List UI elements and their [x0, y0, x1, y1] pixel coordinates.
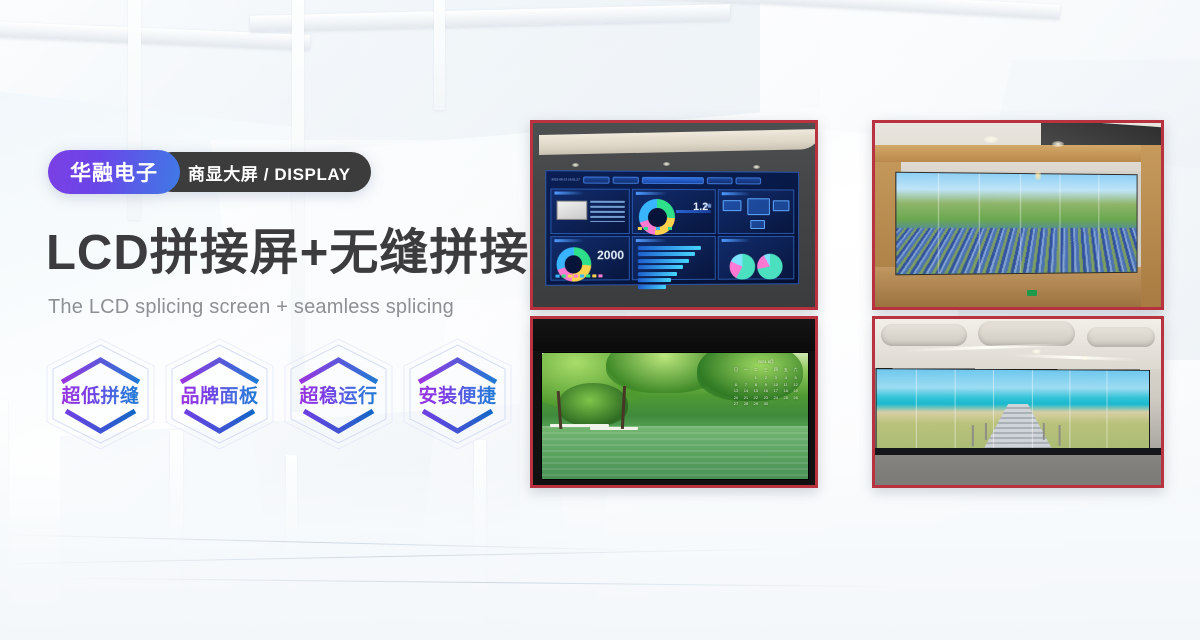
photo-dashboard-wall: 2021-06-13 16:51:27 1.2 万亩: [530, 120, 818, 310]
photo-beach-boardwalk-wall: [872, 316, 1164, 488]
page-subtitle: The LCD splicing screen + seamless splic…: [48, 296, 454, 319]
feature-item-1: 品牌面板: [163, 338, 276, 450]
promo-banner: 华融电子 商显大屏 / DISPLAY LCD拼接屏+无缝拼接 The LCD …: [0, 0, 1200, 640]
photo-willow-lake-wall: 2021 6月 日一二三 四五六 12345 6789101112 131415…: [530, 316, 818, 488]
video-wall-screen: [895, 171, 1137, 275]
feature-label: 品牌面板: [180, 381, 258, 408]
category-badge: 商显大屏 / DISPLAY: [152, 152, 371, 192]
brand-badge: 华融电子: [48, 150, 180, 194]
video-wall-screen: 2021 6月 日一二三 四五六 12345 6789101112 131415…: [541, 352, 809, 480]
brand-badge-row: 华融电子 商显大屏 / DISPLAY: [48, 150, 371, 194]
feature-label: 超低拼缝: [61, 381, 139, 408]
feature-item-0: 超低拼缝: [44, 338, 157, 450]
video-wall-screen: 2021-06-13 16:51:27 1.2 万亩: [545, 170, 799, 286]
feature-label: 安装便捷: [418, 381, 496, 408]
video-wall-screen: [875, 368, 1149, 453]
feature-item-2: 超稳运行: [282, 338, 395, 450]
calendar-title: 2021 6月: [731, 359, 800, 365]
calendar-overlay: 2021 6月 日一二三 四五六 12345 6789101112 131415…: [731, 359, 800, 412]
feature-list: 超低拼缝 品牌面板 超稳运行: [44, 338, 514, 450]
photo-solar-farm-wall: [872, 120, 1164, 310]
feature-item-3: 安装便捷: [401, 338, 514, 450]
feature-label: 超稳运行: [299, 381, 377, 408]
page-title: LCD拼接屏+无缝拼接: [46, 228, 529, 279]
